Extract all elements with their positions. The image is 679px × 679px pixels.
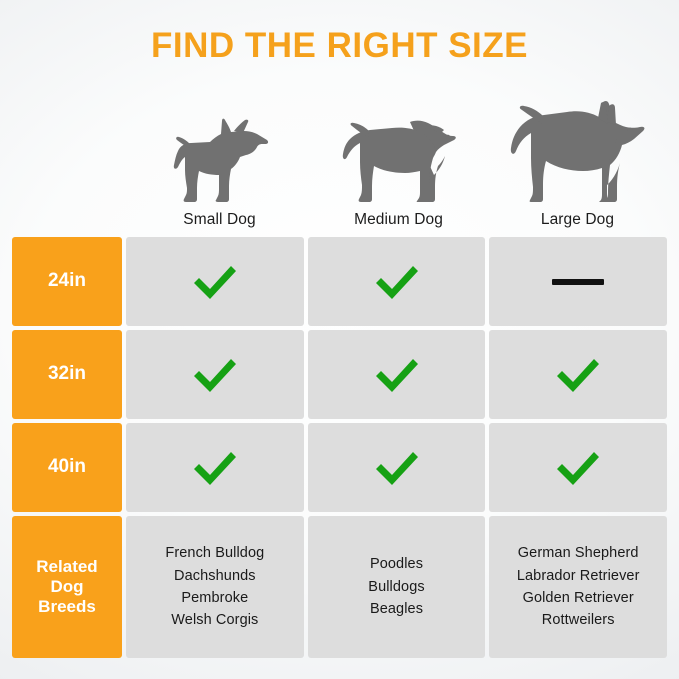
small-dog-silhouette-icon bbox=[169, 106, 271, 202]
dog-size-header: Small Dog Medium Dog bbox=[130, 94, 667, 229]
table-row: 32in bbox=[12, 330, 667, 419]
breed-list-medium: PoodlesBulldogsBeagles bbox=[368, 553, 424, 620]
cell-32in-large bbox=[489, 330, 667, 419]
table-row: 24in bbox=[12, 237, 667, 326]
column-header-label-small: Small Dog bbox=[183, 211, 255, 229]
green-check-icon bbox=[554, 355, 602, 395]
cell-40in-medium bbox=[308, 423, 486, 512]
green-check-icon bbox=[373, 262, 421, 302]
cell-32in-small bbox=[126, 330, 304, 419]
cell-40in-large bbox=[489, 423, 667, 512]
breed-list-small: French BulldogDachshundsPembrokeWelsh Co… bbox=[165, 542, 264, 632]
cell-24in-large bbox=[489, 237, 667, 326]
column-header-medium: Medium Dog bbox=[309, 94, 488, 229]
column-header-label-medium: Medium Dog bbox=[354, 211, 443, 229]
table-row: 40in bbox=[12, 423, 667, 512]
green-check-icon bbox=[191, 262, 239, 302]
cell-40in-small bbox=[126, 423, 304, 512]
breed-list-large: German ShepherdLabrador RetrieverGolden … bbox=[517, 542, 640, 632]
green-check-icon bbox=[554, 448, 602, 488]
page-title: FIND THE RIGHT SIZE bbox=[0, 26, 679, 66]
row-label-40in: 40in bbox=[12, 423, 122, 512]
medium-dog-silhouette-icon bbox=[340, 106, 458, 202]
large-dog-silhouette-icon bbox=[510, 106, 646, 202]
green-check-icon bbox=[191, 448, 239, 488]
cell-breeds-small: French BulldogDachshundsPembrokeWelsh Co… bbox=[126, 516, 304, 658]
cell-24in-medium bbox=[308, 237, 486, 326]
green-check-icon bbox=[373, 448, 421, 488]
cell-24in-small bbox=[126, 237, 304, 326]
row-label-related-breeds-text: RelatedDogBreeds bbox=[36, 557, 97, 617]
cell-32in-medium bbox=[308, 330, 486, 419]
column-header-label-large: Large Dog bbox=[541, 211, 614, 229]
green-check-icon bbox=[373, 355, 421, 395]
cell-breeds-large: German ShepherdLabrador RetrieverGolden … bbox=[489, 516, 667, 658]
row-label-32in: 32in bbox=[12, 330, 122, 419]
infographic-root: FIND THE RIGHT SIZE Small Dog bbox=[0, 0, 679, 679]
black-dash-icon bbox=[552, 279, 604, 285]
row-label-24in: 24in bbox=[12, 237, 122, 326]
column-header-small: Small Dog bbox=[130, 94, 309, 229]
cell-breeds-medium: PoodlesBulldogsBeagles bbox=[308, 516, 486, 658]
row-label-related-breeds: RelatedDogBreeds bbox=[12, 516, 122, 658]
size-comparison-table: 24in 32in bbox=[12, 237, 667, 658]
green-check-icon bbox=[191, 355, 239, 395]
column-header-large: Large Dog bbox=[488, 94, 667, 229]
table-row: RelatedDogBreeds French BulldogDachshund… bbox=[12, 516, 667, 658]
